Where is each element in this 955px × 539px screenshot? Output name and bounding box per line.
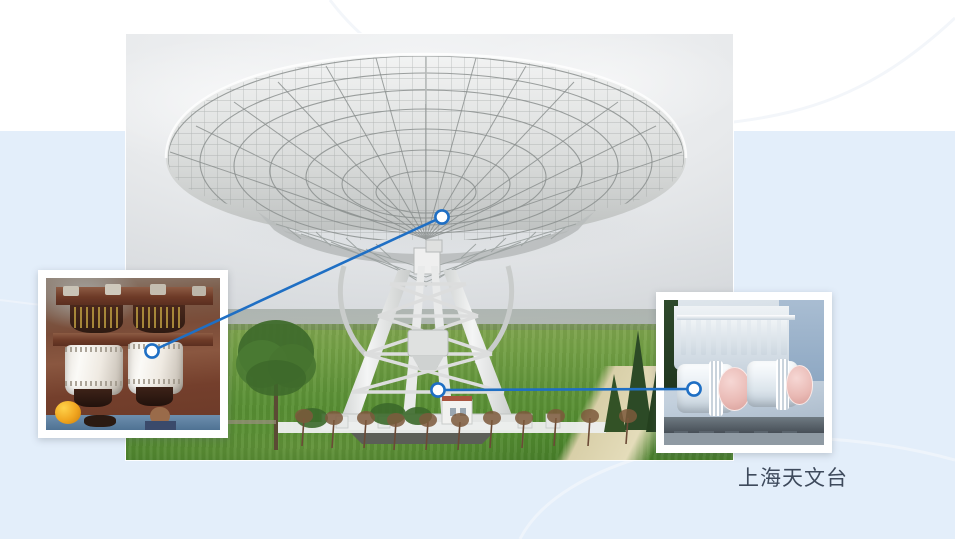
worker-body [145, 421, 176, 430]
rusty-cylinder-right-ring2 [128, 379, 184, 384]
rusty-cylinder-left-ring [65, 347, 122, 352]
rusty-cylinder-left-ring2 [65, 381, 122, 386]
rusty-gearbox-image [46, 278, 220, 430]
refurb-ground [664, 433, 824, 445]
refurb-base-rail [664, 417, 824, 433]
cooling-fin [771, 317, 777, 355]
cooling-fin [691, 317, 697, 355]
inset-photo-rusty-gearbox [38, 270, 228, 438]
cooling-fin [751, 317, 757, 355]
rusty-gear-teeth-right [136, 307, 181, 328]
fin-mount-rail [677, 315, 795, 321]
rusty-cylinder-right [128, 342, 184, 394]
rusty-bolt-b [105, 284, 121, 295]
refurbished-gearbox-image [664, 300, 824, 445]
cooling-fin [731, 317, 737, 355]
cooling-fin [711, 317, 717, 355]
rusty-cylinder-right-ring [128, 344, 184, 349]
rusty-gear-teeth-left [74, 307, 119, 328]
rusty-top-beam [56, 287, 213, 305]
cooling-fin [701, 317, 707, 355]
cooling-fin [761, 317, 767, 355]
rusty-debris [84, 415, 115, 427]
slide-canvas: 上海天文台 [0, 0, 955, 539]
cooling-fin [741, 317, 747, 355]
refurb-drum-rear-endcap [786, 365, 814, 405]
orange-ball-object [55, 401, 81, 424]
rusty-cylinder-left [65, 345, 122, 395]
rusty-cylinder-right-nose [136, 387, 173, 405]
rusty-bolt-c [150, 284, 166, 295]
caption-observatory-name: 上海天文台 [738, 468, 848, 489]
cooling-fin [781, 317, 787, 355]
cooling-fins-row [678, 317, 790, 355]
cooling-fin [721, 317, 727, 355]
rusty-cylinder-left-nose [74, 389, 112, 407]
cooling-fin [681, 317, 687, 355]
refurb-drum-front-endcap [718, 367, 750, 411]
rusty-bolt-a [63, 286, 79, 297]
inset-photo-refurbished-gearbox [656, 292, 832, 453]
rusty-bolt-d [192, 286, 206, 297]
